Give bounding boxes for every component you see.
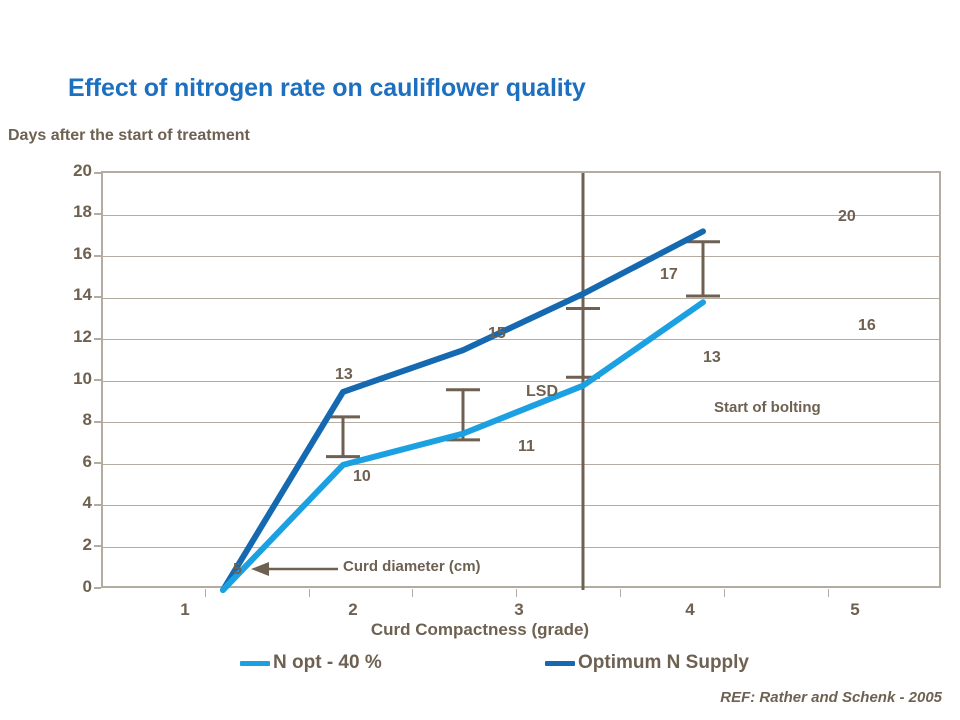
- y-tick-mark-6: [94, 462, 101, 464]
- y-tick-mark-14: [94, 296, 101, 298]
- curd-diameter-arrow: [251, 562, 338, 576]
- y-tick-label-10: 10: [46, 369, 92, 389]
- y-tick-mark-18: [94, 213, 101, 215]
- x-tick-label-1: 1: [155, 600, 215, 620]
- y-tick-mark-20: [94, 172, 101, 174]
- y-tick-mark-4: [94, 504, 101, 506]
- legend-item-optimum-n-supply[interactable]: Optimum N Supply: [545, 652, 749, 674]
- y-tick-label-0: 0: [46, 577, 92, 597]
- x-tick-mark-5: [620, 589, 621, 597]
- data-label-light-3: 11: [518, 438, 535, 456]
- x-tick-label-2: 2: [323, 600, 383, 620]
- chart-legend: N opt - 40 % Optimum N Supply: [0, 652, 960, 678]
- x-tick-mark-2: [309, 589, 310, 597]
- page-title: Effect of nitrogen rate on cauliflower q…: [68, 74, 586, 103]
- plot-area: 13 15 17 20 5 10 11 13 16 LSD Start of b…: [101, 171, 941, 588]
- y-tick-label-4: 4: [46, 493, 92, 513]
- data-label-light-4: 13: [703, 349, 721, 367]
- data-label-dark-4: 17: [660, 266, 678, 284]
- y-tick-label-12: 12: [46, 327, 92, 347]
- data-label-light-5: 16: [858, 317, 876, 335]
- y-tick-mark-10: [94, 379, 101, 381]
- legend-label-n-opt-40: N opt - 40 %: [273, 652, 382, 674]
- y-tick-mark-12: [94, 338, 101, 340]
- legend-swatch-icon-n-opt-40: [240, 661, 270, 666]
- data-label-light-2: 10: [353, 468, 371, 486]
- y-axis-title: Days after the start of treatment: [8, 127, 250, 145]
- data-label-dark-2: 13: [335, 366, 353, 384]
- x-tick-mark-7: [828, 589, 829, 597]
- slide-canvas: Effect of nitrogen rate on cauliflower q…: [0, 0, 960, 720]
- chart-svg: [103, 173, 943, 590]
- y-tick-label-14: 14: [46, 285, 92, 305]
- x-tick-label-5: 5: [825, 600, 885, 620]
- arrow-head-icon: [251, 562, 269, 576]
- y-tick-label-6: 6: [46, 452, 92, 472]
- x-tick-mark-4: [516, 589, 517, 597]
- legend-swatch-icon-optimum-n-supply: [545, 661, 575, 666]
- y-tick-mark-8: [94, 421, 101, 423]
- x-axis-title: Curd Compactness (grade): [0, 620, 960, 640]
- y-tick-label-20: 20: [46, 161, 92, 181]
- legend-item-n-opt-40[interactable]: N opt - 40 %: [240, 652, 382, 674]
- lsd-label: LSD: [526, 383, 558, 401]
- series-line-n-opt-40: [223, 302, 703, 590]
- y-tick-mark-0: [94, 587, 101, 589]
- data-label-dark-3: 15: [488, 325, 506, 343]
- y-tick-mark-2: [94, 545, 101, 547]
- y-tick-mark-16: [94, 255, 101, 257]
- x-tick-mark-3: [412, 589, 413, 597]
- y-tick-label-2: 2: [46, 535, 92, 555]
- x-tick-mark-6: [724, 589, 725, 597]
- data-label-dark-5: 20: [838, 208, 856, 226]
- reference-note: REF: Rather and Schenk - 2005: [720, 689, 942, 706]
- start-of-bolting-label: Start of bolting: [714, 399, 821, 416]
- y-tick-label-16: 16: [46, 244, 92, 264]
- y-tick-label-8: 8: [46, 410, 92, 430]
- curd-diameter-label: Curd diameter (cm): [343, 558, 481, 575]
- data-label-light-1: 5: [233, 561, 242, 579]
- legend-label-optimum-n-supply: Optimum N Supply: [578, 652, 749, 674]
- x-tick-mark-1: [205, 589, 206, 597]
- y-tick-label-18: 18: [46, 202, 92, 222]
- x-tick-label-4: 4: [660, 600, 720, 620]
- x-tick-label-3: 3: [489, 600, 549, 620]
